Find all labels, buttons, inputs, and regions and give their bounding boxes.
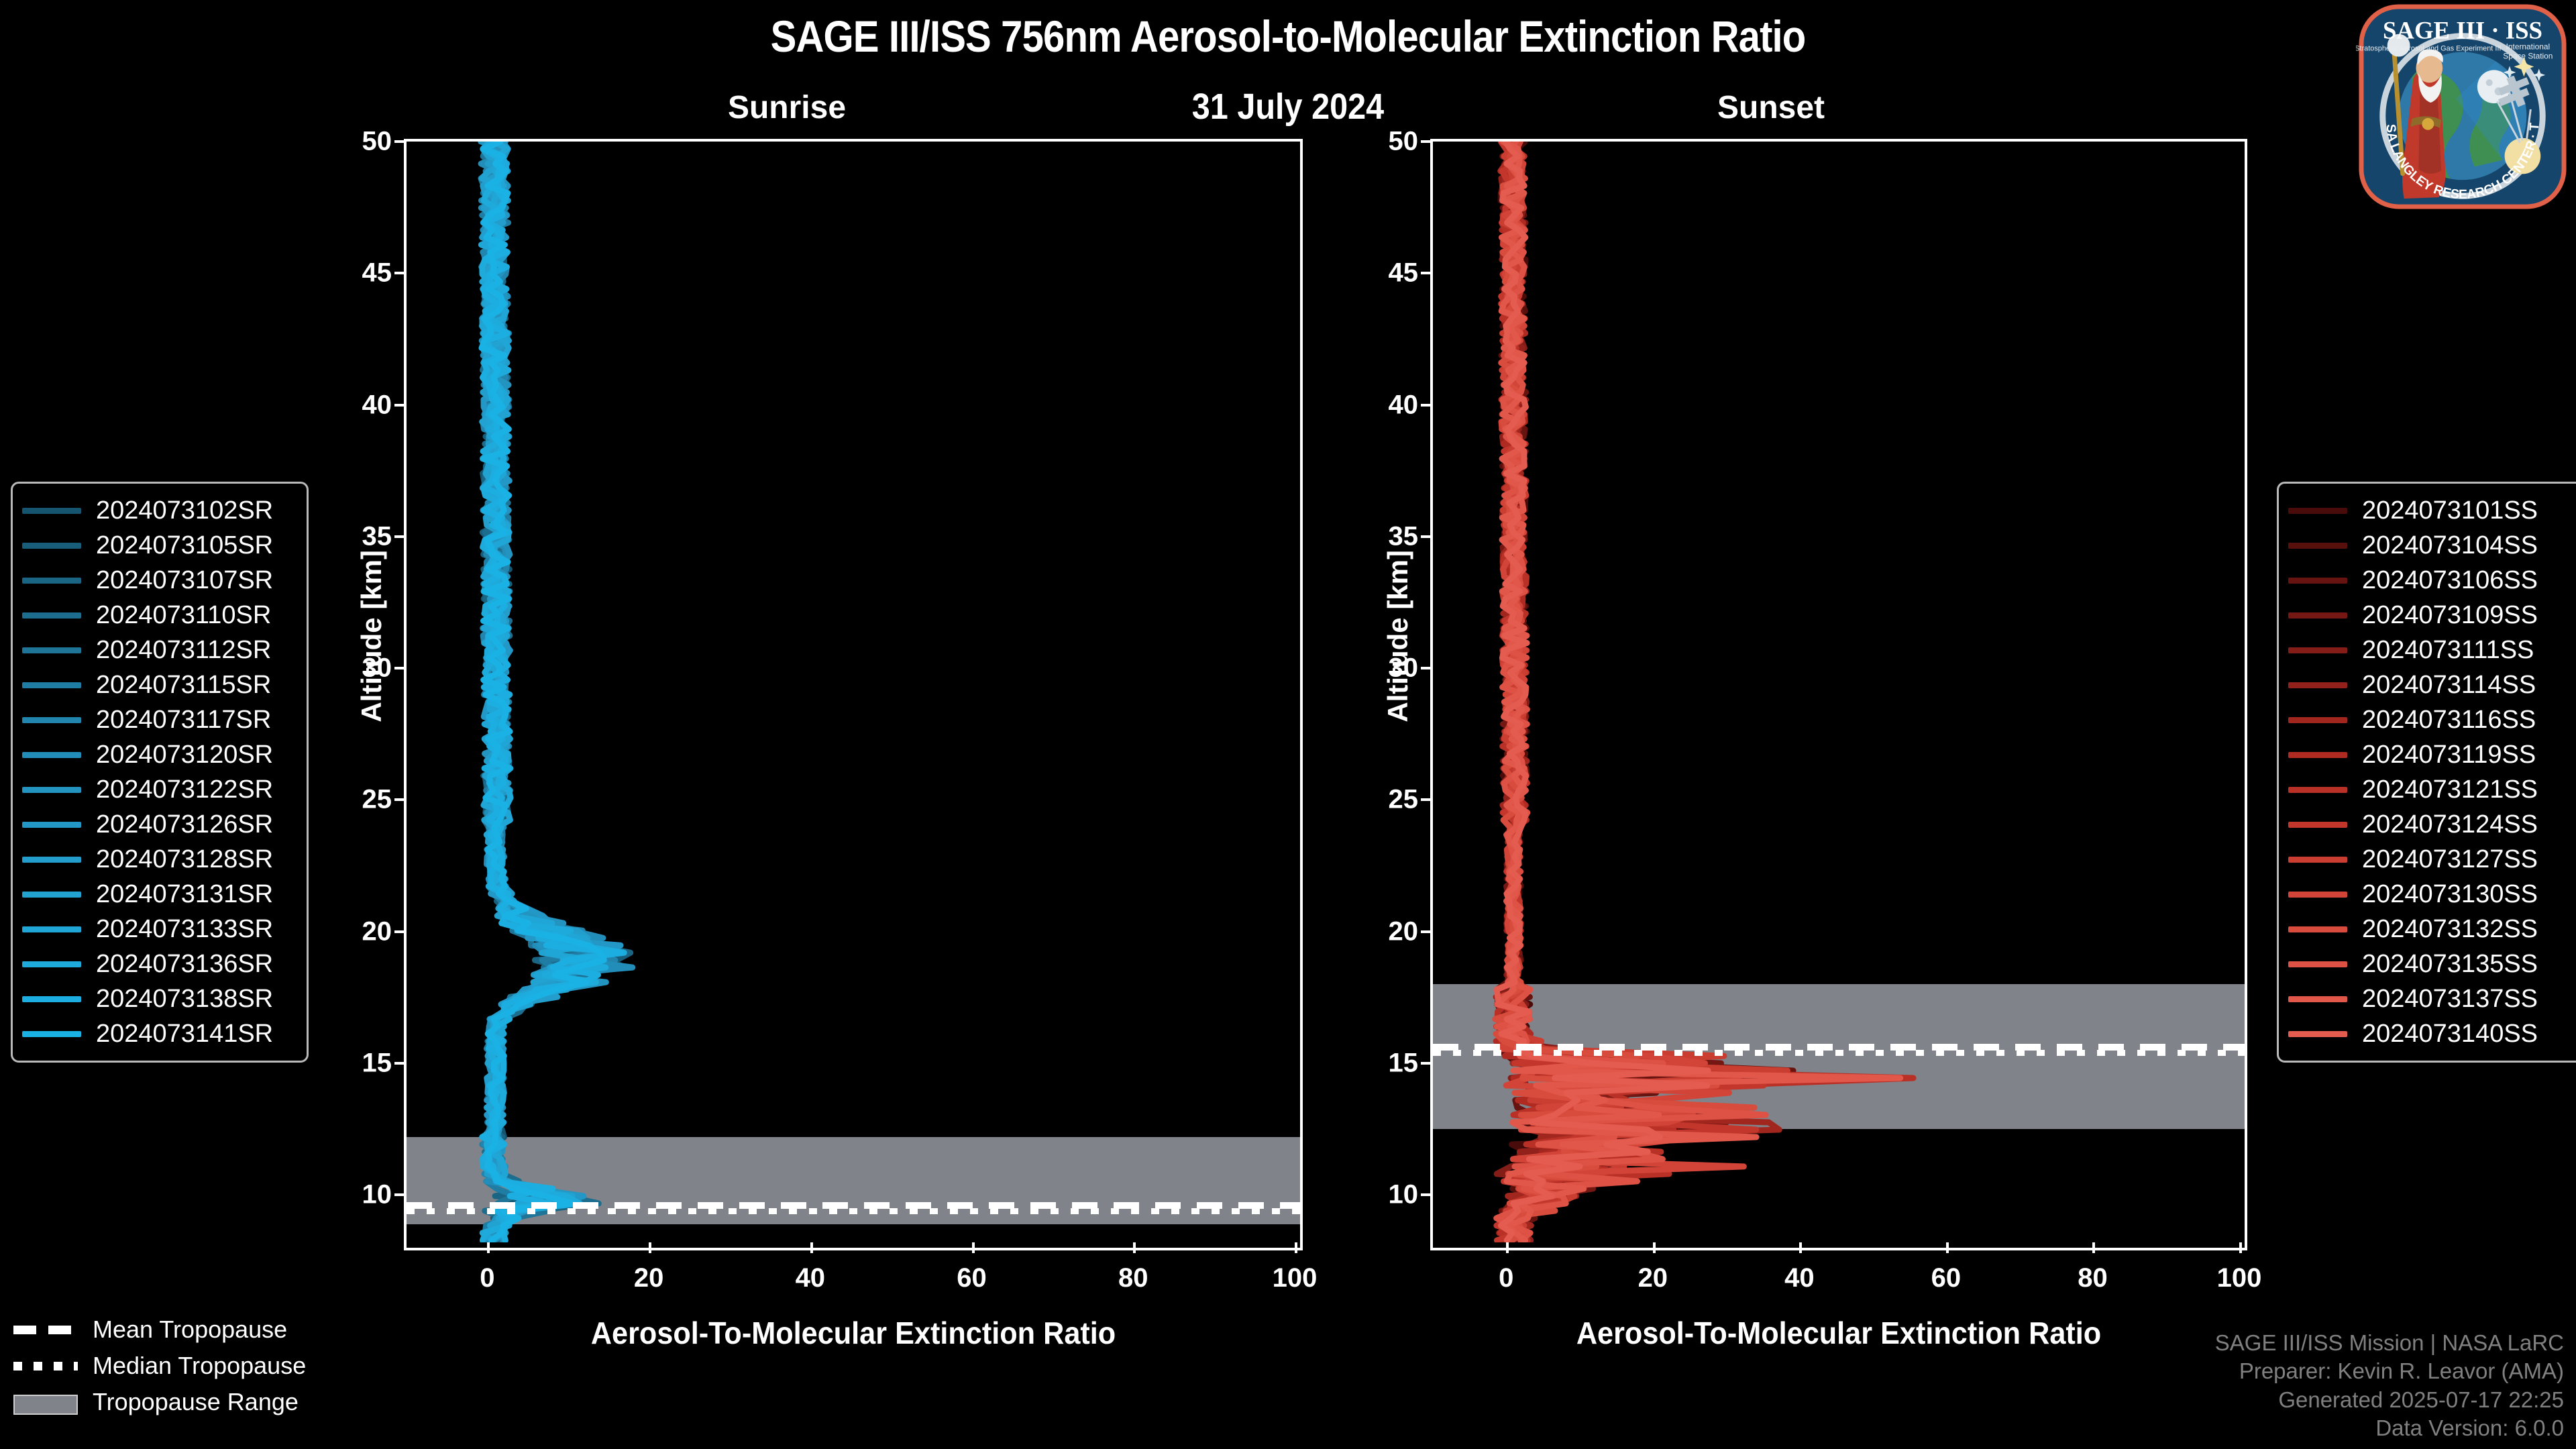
x-axis-tick-label: 100 — [1254, 1263, 1335, 1293]
filled-band-icon — [13, 1395, 78, 1409]
x-axis-tick-mark — [810, 1242, 813, 1253]
median-tropopause-line — [407, 1208, 1300, 1214]
legend-color-swatch — [22, 508, 81, 514]
y-axis-tick-label: 35 — [339, 521, 392, 551]
tropopause-legend: Mean Tropopause Median Tropopause Tropop… — [13, 1311, 306, 1420]
legend-event-label: 2024073132SS — [2362, 915, 2538, 944]
legend-color-swatch — [2288, 822, 2347, 828]
legend-item-event[interactable]: 2024073115SR — [22, 667, 293, 702]
legend-color-swatch — [22, 787, 81, 793]
legend-event-label: 2024073124SS — [2362, 810, 2538, 839]
logo-subtitle-right-1: International — [2506, 42, 2551, 52]
legend-item-event[interactable]: 2024073104SS — [2288, 528, 2570, 563]
legend-event-label: 2024073116SS — [2362, 706, 2536, 735]
plot-area-sunrise — [404, 139, 1303, 1250]
x-axis-label-sunset: Aerosol-To-Molecular Extinction Ratio — [1455, 1315, 2223, 1351]
legend-item-event[interactable]: 2024073116SS — [2288, 702, 2570, 737]
panel-heading-sunrise: Sunrise — [653, 89, 921, 126]
x-axis-tick-mark — [2092, 1242, 2095, 1253]
y-axis-tick-mark — [394, 930, 405, 933]
y-axis-tick-label: 25 — [339, 785, 392, 815]
legend-color-swatch — [2288, 961, 2347, 967]
x-axis-tick-label: 40 — [770, 1263, 851, 1293]
x-axis-tick-mark — [1133, 1242, 1136, 1253]
legend-color-swatch — [22, 612, 81, 619]
legend-event-label: 2024073101SS — [2362, 496, 2538, 525]
x-axis-tick-label: 20 — [1613, 1263, 1693, 1293]
legend-color-swatch — [2288, 543, 2347, 549]
legend-color-swatch — [2288, 996, 2347, 1002]
legend-item-event[interactable]: 2024073117SR — [22, 702, 293, 737]
y-axis-tick-label: 20 — [1366, 916, 1418, 947]
legend-label-mean: Mean Tropopause — [93, 1316, 287, 1344]
y-axis-tick-mark — [394, 1193, 405, 1196]
legend-item-mean-tropopause: Mean Tropopause — [13, 1311, 306, 1348]
legend-color-swatch — [22, 822, 81, 828]
legend-item-event[interactable]: 2024073121SS — [2288, 772, 2570, 807]
legend-color-swatch — [2288, 647, 2347, 653]
x-axis-tick-mark — [1799, 1242, 1802, 1253]
legend-event-label: 2024073105SR — [96, 531, 273, 560]
y-axis-tick-label: 40 — [339, 390, 392, 420]
legend-item-event[interactable]: 2024073106SS — [2288, 563, 2570, 598]
x-axis-tick-label: 80 — [1093, 1263, 1173, 1293]
x-axis-tick-mark — [972, 1242, 975, 1253]
y-axis-tick-label: 45 — [1366, 258, 1418, 288]
legend-item-event[interactable]: 2024073127SS — [2288, 842, 2570, 877]
legend-item-event[interactable]: 2024073124SS — [2288, 807, 2570, 842]
y-axis-tick-mark — [1421, 140, 1432, 143]
x-axis-tick-mark — [1506, 1242, 1509, 1253]
y-axis-tick-label: 50 — [1366, 127, 1418, 157]
legend-event-label: 2024073115SR — [96, 671, 271, 700]
legend-item-event[interactable]: 2024073128SR — [22, 842, 293, 877]
median-tropopause-line — [1433, 1050, 2245, 1056]
y-axis-label-sunrise: Altitude [km] — [356, 550, 388, 722]
legend-color-swatch — [2288, 892, 2347, 898]
x-axis-tick-label: 20 — [608, 1263, 689, 1293]
legend-event-label: 2024073137SS — [2362, 985, 2538, 1014]
legend-color-swatch — [22, 682, 81, 688]
credits-line-preparer: Preparer: Kevin R. Leavor (AMA) — [2215, 1357, 2564, 1385]
legend-event-label: 2024073110SR — [96, 601, 271, 630]
legend-color-swatch — [22, 892, 81, 898]
legend-item-event[interactable]: 2024073136SR — [22, 947, 293, 981]
legend-color-swatch — [2288, 578, 2347, 584]
logo-title: SAGE III · ISS — [2383, 17, 2542, 44]
x-axis-tick-label: 0 — [1466, 1263, 1546, 1293]
legend-item-event[interactable]: 2024073132SS — [2288, 912, 2570, 947]
legend-color-swatch — [2288, 926, 2347, 932]
x-axis-tick-mark — [2239, 1242, 2242, 1253]
x-axis-tick-mark — [1946, 1242, 1949, 1253]
y-axis-tick-label: 50 — [339, 127, 392, 157]
credits-block: SAGE III/ISS Mission | NASA LaRC Prepare… — [2215, 1329, 2564, 1442]
y-axis-tick-label: 20 — [339, 916, 392, 947]
page-title: SAGE III/ISS 756nm Aerosol-to-Molecular … — [154, 11, 2421, 62]
y-axis-tick-label: 30 — [339, 653, 392, 684]
legend-event-label: 2024073107SR — [96, 566, 273, 595]
legend-color-swatch — [2288, 787, 2347, 793]
x-axis-tick-mark — [487, 1242, 490, 1253]
legend-item-event[interactable]: 2024073122SR — [22, 772, 293, 807]
y-axis-tick-label: 15 — [339, 1049, 392, 1079]
legend-event-label: 2024073140SS — [2362, 1020, 2538, 1049]
legend-sunrise[interactable]: 2024073102SR2024073105SR2024073107SR2024… — [11, 482, 309, 1063]
y-axis-tick-label: 40 — [1366, 390, 1418, 420]
legend-item-event[interactable]: 2024073119SS — [2288, 737, 2570, 772]
legend-event-label: 2024073121SS — [2362, 775, 2538, 804]
x-axis-tick-mark — [1653, 1242, 1656, 1253]
legend-event-label: 2024073128SR — [96, 845, 273, 874]
profile-line — [482, 142, 604, 1240]
legend-event-label: 2024073130SS — [2362, 880, 2538, 909]
x-axis-tick-label: 0 — [447, 1263, 527, 1293]
y-axis-tick-mark — [394, 140, 405, 143]
y-axis-tick-label: 25 — [1366, 785, 1418, 815]
legend-color-swatch — [2288, 752, 2347, 758]
x-axis-tick-mark — [1295, 1242, 1297, 1253]
y-axis-tick-mark — [394, 1062, 405, 1065]
legend-item-event[interactable]: 2024073101SS — [2288, 493, 2570, 528]
legend-event-label: 2024073126SR — [96, 810, 273, 839]
x-axis-tick-label: 60 — [1906, 1263, 1986, 1293]
credits-line-version: Data Version: 6.0.0 — [2215, 1414, 2564, 1442]
legend-item-event[interactable]: 2024073135SS — [2288, 947, 2570, 981]
legend-event-label: 2024073106SS — [2362, 566, 2538, 595]
legend-color-swatch — [22, 752, 81, 758]
legend-item-event[interactable]: 2024073137SS — [2288, 981, 2570, 1016]
y-axis-tick-label: 10 — [1366, 1180, 1418, 1210]
credits-line-mission: SAGE III/ISS Mission | NASA LaRC — [2215, 1329, 2564, 1357]
legend-event-label: 2024073133SR — [96, 915, 273, 944]
y-axis-tick-mark — [394, 667, 405, 669]
legend-event-label: 2024073136SR — [96, 950, 273, 979]
legend-label-range: Tropopause Range — [93, 1388, 299, 1416]
legend-item-event[interactable]: 2024073131SR — [22, 877, 293, 912]
legend-color-swatch — [2288, 612, 2347, 619]
y-axis-tick-label: 15 — [1366, 1049, 1418, 1079]
y-axis-tick-mark — [1421, 535, 1432, 538]
legend-event-label: 2024073135SS — [2362, 950, 2538, 979]
sage-iii-iss-mission-patch-logo: SAGE III · ISS Stratospheric Aerosol and… — [2356, 4, 2569, 212]
legend-color-swatch — [2288, 1031, 2347, 1037]
x-axis-label-sunrise: Aerosol-To-Molecular Extinction Ratio — [431, 1315, 1276, 1351]
legend-item-event[interactable]: 2024073140SS — [2288, 1016, 2570, 1051]
x-axis-tick-mark — [649, 1242, 651, 1253]
x-axis-tick-label: 40 — [1759, 1263, 1839, 1293]
legend-item-event[interactable]: 2024073111SS — [2288, 633, 2570, 667]
legend-item-event[interactable]: 2024073130SS — [2288, 877, 2570, 912]
legend-color-swatch — [2288, 682, 2347, 688]
y-axis-tick-mark — [1421, 404, 1432, 407]
legend-item-event[interactable]: 2024073112SR — [22, 633, 293, 667]
legend-color-swatch — [22, 543, 81, 549]
legend-item-event[interactable]: 2024073133SR — [22, 912, 293, 947]
legend-color-swatch — [22, 961, 81, 967]
legend-item-tropopause-range: Tropopause Range — [13, 1384, 306, 1420]
legend-color-swatch — [22, 996, 81, 1002]
y-axis-tick-mark — [1421, 667, 1432, 669]
x-axis-tick-label: 60 — [932, 1263, 1012, 1293]
x-axis-tick-label: 100 — [2199, 1263, 2279, 1293]
y-axis-tick-mark — [1421, 1062, 1432, 1065]
legend-event-label: 2024073120SR — [96, 741, 273, 769]
y-axis-tick-label: 10 — [339, 1180, 392, 1210]
dotted-line-icon — [13, 1358, 78, 1373]
legend-item-event[interactable]: 2024073105SR — [22, 528, 293, 563]
legend-event-label: 2024073109SS — [2362, 601, 2538, 630]
legend-event-label: 2024073138SR — [96, 985, 273, 1014]
profile-curves — [1433, 142, 2239, 1242]
legend-event-label: 2024073114SS — [2362, 671, 2536, 700]
y-axis-tick-label: 45 — [339, 258, 392, 288]
logo-subtitle-left: Stratospheric Aerosol and Gas Experiment… — [2356, 45, 2501, 53]
legend-color-swatch — [22, 1031, 81, 1037]
legend-label-median: Median Tropopause — [93, 1352, 306, 1380]
legend-color-swatch — [22, 926, 81, 932]
legend-event-label: 2024073104SS — [2362, 531, 2538, 560]
y-axis-tick-mark — [1421, 272, 1432, 274]
y-axis-tick-mark — [394, 272, 405, 274]
y-axis-tick-mark — [1421, 798, 1432, 801]
profile-curves — [407, 142, 1295, 1242]
logo-subtitle-right-2: Space Station — [2503, 51, 2553, 60]
legend-color-swatch — [2288, 508, 2347, 514]
legend-color-swatch — [2288, 857, 2347, 863]
legend-event-label: 2024073119SS — [2362, 741, 2536, 769]
legend-item-event[interactable]: 2024073109SS — [2288, 598, 2570, 633]
y-axis-tick-mark — [394, 798, 405, 801]
legend-item-event[interactable]: 2024073120SR — [22, 737, 293, 772]
legend-item-median-tropopause: Median Tropopause — [13, 1348, 306, 1384]
legend-event-label: 2024073127SS — [2362, 845, 2538, 874]
credits-line-generated: Generated 2025-07-17 22:25 — [2215, 1386, 2564, 1414]
legend-event-label: 2024073112SR — [96, 636, 271, 665]
legend-item-event[interactable]: 2024073138SR — [22, 981, 293, 1016]
y-axis-tick-mark — [394, 535, 405, 538]
legend-event-label: 2024073111SS — [2362, 636, 2534, 665]
legend-event-label: 2024073122SR — [96, 775, 273, 804]
legend-event-label: 2024073131SR — [96, 880, 273, 909]
plot-area-sunset — [1430, 139, 2247, 1250]
y-axis-tick-label: 35 — [1366, 521, 1418, 551]
legend-item-event[interactable]: 2024073114SS — [2288, 667, 2570, 702]
date-subtitle: 31 July 2024 — [1046, 86, 1529, 127]
legend-color-swatch — [22, 857, 81, 863]
y-axis-tick-mark — [1421, 1193, 1432, 1196]
legend-color-swatch — [22, 578, 81, 584]
legend-color-swatch — [2288, 717, 2347, 723]
legend-event-label: 2024073117SR — [96, 706, 271, 735]
legend-item-event[interactable]: 2024073126SR — [22, 807, 293, 842]
legend-item-event[interactable]: 2024073110SR — [22, 598, 293, 633]
y-axis-label-sunset: Altitude [km] — [1382, 550, 1414, 722]
panel-heading-sunset: Sunset — [1637, 89, 1905, 126]
legend-color-swatch — [22, 717, 81, 723]
legend-color-swatch — [22, 647, 81, 653]
dashed-line-icon — [13, 1322, 78, 1337]
y-axis-tick-mark — [394, 404, 405, 407]
legend-sunset[interactable]: 2024073101SS2024073104SS2024073106SS2024… — [2277, 482, 2576, 1063]
y-axis-tick-label: 30 — [1366, 653, 1418, 684]
legend-item-event[interactable]: 2024073107SR — [22, 563, 293, 598]
legend-event-label: 2024073141SR — [96, 1020, 273, 1049]
y-axis-tick-mark — [1421, 930, 1432, 933]
legend-event-label: 2024073102SR — [96, 496, 273, 525]
x-axis-tick-label: 80 — [2052, 1263, 2133, 1293]
legend-item-event[interactable]: 2024073102SR — [22, 493, 293, 528]
legend-item-event[interactable]: 2024073141SR — [22, 1016, 293, 1051]
